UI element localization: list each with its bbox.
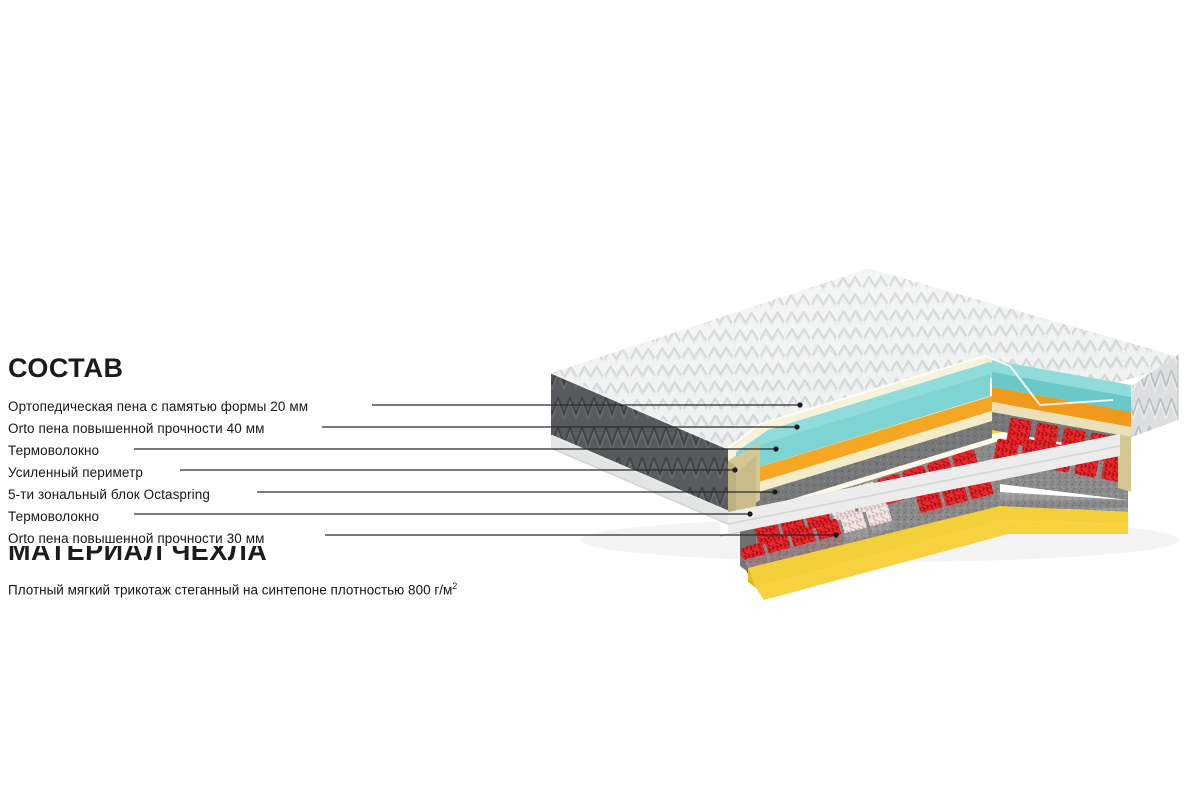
mattress-illustration (0, 0, 1191, 794)
spec-label-reinforced-perimeter: Усиленный периметр (8, 465, 148, 480)
spec-label-memory-foam: Ортопедическая пена с памятью формы 20 м… (8, 399, 313, 414)
spec-label-thermofiber-bottom: Термоволокно (8, 509, 104, 524)
spec-label-thermofiber-top: Термоволокно (8, 443, 104, 458)
spec-label-octaspring-block: 5-ти зональный блок Octaspring (8, 487, 215, 502)
mattress-composition-page: СОСТАВ Ортопедическая пена с памятью фор… (0, 0, 1191, 794)
spec-label-orto-foam-bottom: Orto пена повышенной прочности 30 мм (8, 531, 269, 546)
spec-label-orto-foam-top: Orto пена повышенной прочности 40 мм (8, 421, 269, 436)
